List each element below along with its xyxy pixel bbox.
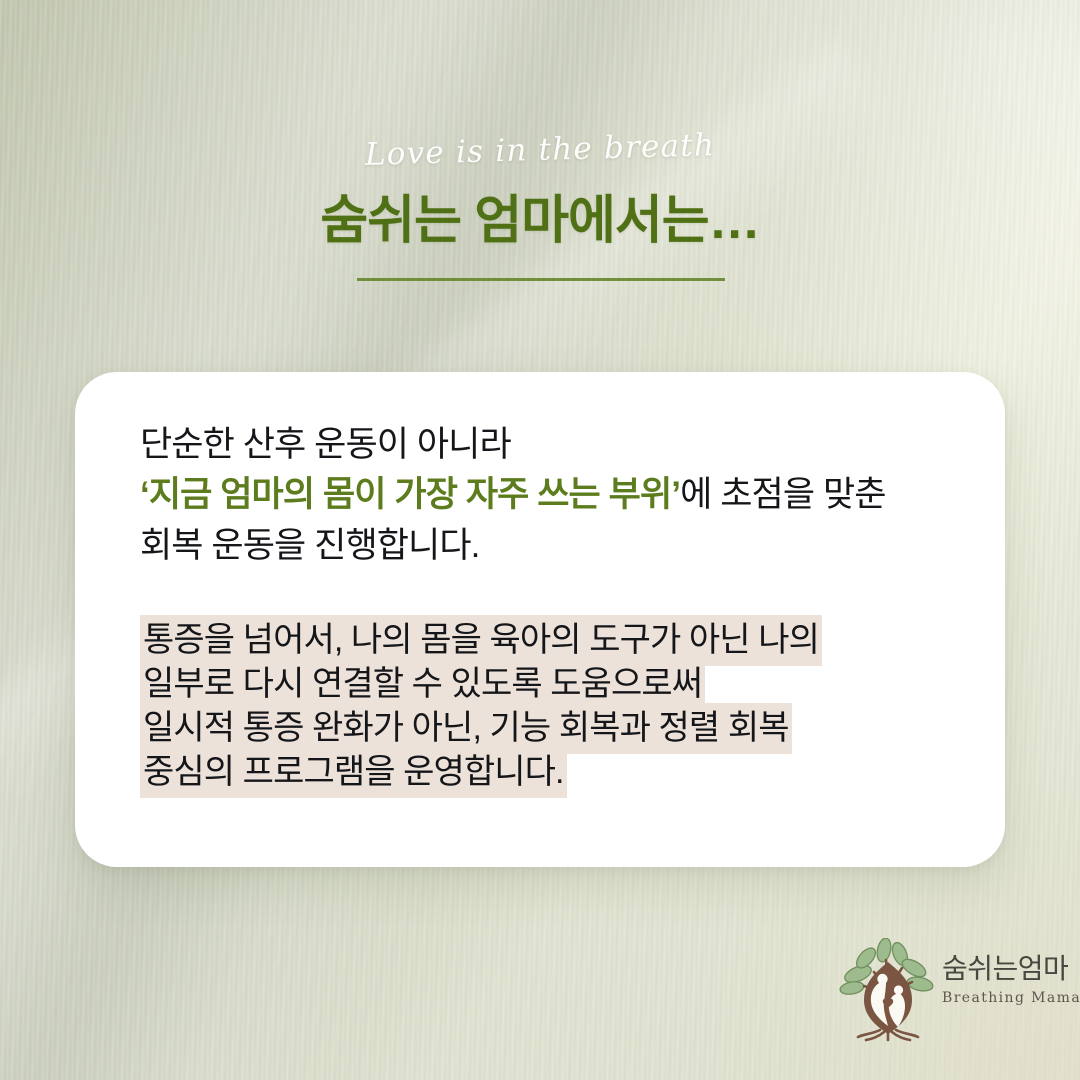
paragraph-primary-line: 단순한 산후 운동이 아니라 (140, 420, 975, 470)
paragraph-highlighted-line: 중심의 프로그램을 운영합니다. (140, 755, 975, 789)
brand-name-en: Breathing Mama (942, 990, 1058, 1006)
text-run: 회복 운동을 진행합니다. (140, 526, 479, 565)
page-title-wrap: 숨쉬는 엄마에서는… (0, 192, 1080, 252)
brand-logo: 숨쉬는엄마 Breathing Mama (836, 938, 1056, 1050)
content-card-body: 단순한 산후 운동이 아니라‘지금 엄마의 몸이 가장 자주 쓰는 부위’에 초… (140, 420, 975, 799)
tree-mother-child-emblem-icon (836, 938, 940, 1042)
brand-logo-text: 숨쉬는엄마 Breathing Mama (942, 954, 1058, 1006)
poster-canvas: Love is in the breath 숨쉬는 엄마에서는… 단순한 산후 … (0, 0, 1080, 1080)
paragraph-primary-line: ‘지금 엄마의 몸이 가장 자주 쓰는 부위’에 초점을 맞춘 (140, 470, 975, 520)
paragraph-primary: 단순한 산후 운동이 아니라‘지금 엄마의 몸이 가장 자주 쓰는 부위’에 초… (140, 420, 975, 571)
highlight-mark: 중심의 프로그램을 운영합니다. (140, 747, 567, 798)
title-underline-rule (357, 278, 725, 281)
paragraph-highlighted: 통증을 넘어서, 나의 몸을 육아의 도구가 아닌 나의일부로 다시 연결할 수… (140, 623, 975, 789)
text-run: 단순한 산후 운동이 아니라 (140, 425, 511, 464)
text-run: 에 초점을 맞춘 (680, 475, 885, 514)
paragraph-highlighted-line: 통증을 넘어서, 나의 몸을 육아의 도구가 아닌 나의 (140, 623, 975, 657)
paragraph-highlighted-line: 일부로 다시 연결할 수 있도록 도움으로써 (140, 667, 975, 701)
content-card: 단순한 산후 운동이 아니라‘지금 엄마의 몸이 가장 자주 쓰는 부위’에 초… (75, 372, 1005, 867)
paragraph-primary-line: 회복 운동을 진행합니다. (140, 521, 975, 571)
page-title: 숨쉬는 엄마에서는… (320, 192, 759, 252)
accent-phrase: ‘지금 엄마의 몸이 가장 자주 쓰는 부위’ (140, 475, 680, 514)
paragraph-highlighted-line: 일시적 통증 완화가 아닌, 기능 회복과 정렬 회복 (140, 711, 975, 745)
brand-name-ko: 숨쉬는엄마 (942, 954, 1058, 985)
